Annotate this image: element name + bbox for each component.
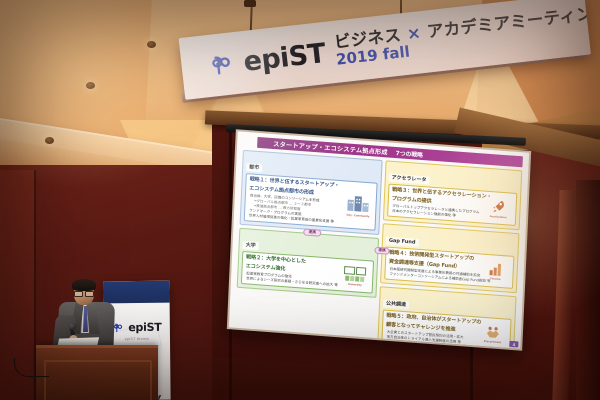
- slide-group-accelerator: アクセラレータ 戦略３：世界と伍するアクセラレーション・ プログラムの提供 グロ…: [383, 160, 523, 230]
- presentation-slide: スタートアップ・エコシステム拠点形成 7つの戦略 都市 戦略１：世界と伍するスタ…: [229, 131, 529, 348]
- epist-logo-icon: [206, 50, 235, 79]
- banner-brand-wordmark: epiST: [242, 38, 327, 78]
- ceiling-mount-plate: [244, 0, 256, 7]
- rocket-icon: Acceleration: [483, 194, 514, 223]
- art-caption: Procurement: [484, 339, 502, 343]
- group-tag: 公共調達: [383, 299, 409, 309]
- glasses-icon: [74, 291, 94, 295]
- slide-group-gap-fund: 連携 Gap Fund 戦略４：技術開発型スタートアップの 資金調達等支援（Ga…: [380, 223, 520, 293]
- slide-column-right: アクセラレータ 戦略３：世界と伍するアクセラレーション・ プログラムの提供 グロ…: [377, 160, 522, 348]
- conference-hall-photo: スタートアップ・エコシステム拠点形成 7つの戦略 都市 戦略１：世界と伍するスタ…: [0, 0, 600, 400]
- art-caption: Finance: [490, 277, 501, 281]
- group-tag: 都市: [246, 163, 262, 172]
- slide-group-procurement: 公共調達 戦略５：政府、自治体がスタートアップの 顧客となってチャレンジを推進 …: [377, 286, 517, 348]
- funding-chart-icon: Finance: [480, 257, 511, 286]
- lens-right: [85, 291, 94, 297]
- art-caption: City・Community: [346, 212, 369, 218]
- group-tag: 大学: [242, 241, 258, 250]
- connector-badge: 連携: [304, 228, 321, 236]
- strategy-card: 戦略３：世界と伍するアクセラレーション・ プログラムの提供 グローバルトップアク…: [387, 184, 517, 226]
- slide-group-city: 都市 戦略１：世界と伍するスタートアップ・ エコシステム拠点都市の形成 自治体、…: [240, 150, 383, 235]
- slide-title-sub: 7つの戦略: [396, 148, 424, 159]
- projection-screen: スタートアップ・エコシステム拠点形成 7つの戦略 都市 戦略１：世界と伍するスタ…: [229, 131, 529, 348]
- slide-column-left: 都市 戦略１：世界と伍するスタートアップ・ エコシステム拠点都市の形成 自治体、…: [234, 150, 382, 349]
- speaker-hair: [72, 279, 96, 291]
- slide-group-university: 連携 大学 戦略２：大学を中心とした エコシステム強化 起業家教育プログラムの強…: [237, 228, 379, 298]
- city-buildings-icon: City・Community: [343, 183, 375, 227]
- floor-cable: [14, 358, 49, 377]
- podium-front-panel: [44, 360, 152, 400]
- art-caption: University: [348, 282, 362, 286]
- strategy-card: 戦略１：世界と伍するスタートアップ・ エコシステム拠点都市の形成 自治体、大学、…: [244, 173, 378, 231]
- wall-right-corner: [576, 180, 600, 400]
- lens-left: [74, 291, 83, 297]
- downlight-icon: [86, 82, 95, 89]
- strategy-card: 戦略２：大学を中心とした エコシステム強化 起業家教育プログラムの強化 世界によ…: [241, 251, 374, 294]
- connector-badge-side: 連携: [374, 247, 389, 255]
- strategy-card: 戦略４：技術開発型スタートアップの 資金調達等支援（Gap Fund） 日本版研…: [384, 246, 514, 288]
- slide-page-number: 4: [509, 341, 518, 348]
- art-caption: Acceleration: [490, 215, 507, 219]
- downlight-icon: [45, 137, 54, 144]
- handshake-procurement-icon: Procurement: [477, 319, 508, 348]
- podium: [36, 345, 158, 400]
- projection-screen-frame: スタートアップ・エコシステム拠点形成 7つの戦略 都市 戦略１：世界と伍するスタ…: [227, 129, 531, 350]
- handheld-microphone-head: [69, 323, 76, 330]
- slide-columns: 都市 戦略１：世界と伍するスタートアップ・ エコシステム拠点都市の形成 自治体、…: [232, 150, 524, 349]
- group-tag: Gap Fund: [386, 237, 419, 247]
- group-tag: アクセラレータ: [389, 174, 430, 185]
- university-campus-icon: University: [340, 261, 371, 290]
